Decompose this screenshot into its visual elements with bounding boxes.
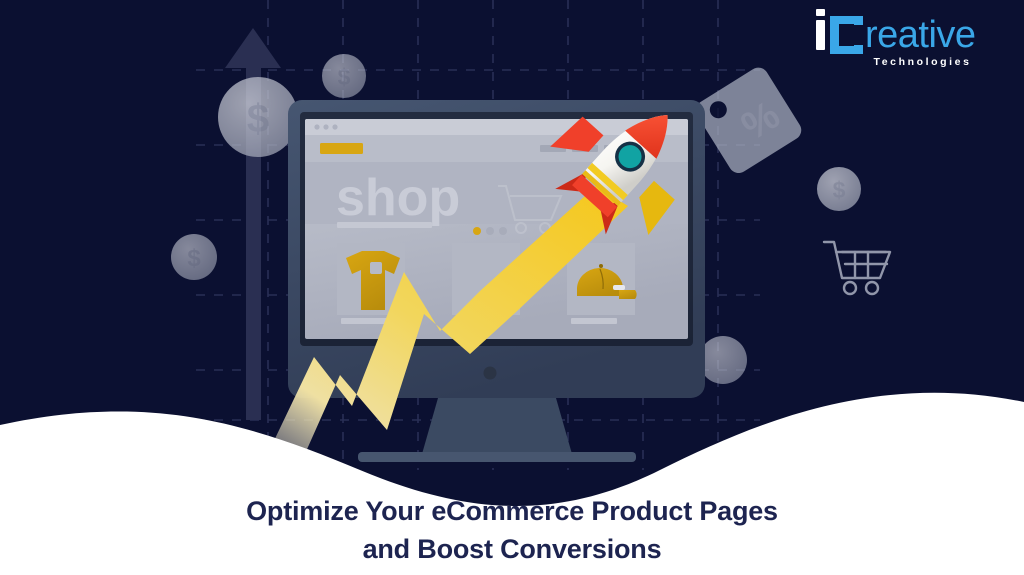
headline-line-1: Optimize Your eCommerce Product Pages xyxy=(0,492,1024,530)
carousel-dot-active[interactable] xyxy=(473,227,481,235)
logo-mark-and-word: reative xyxy=(816,16,976,54)
logo-subtitle: Technologies xyxy=(873,57,971,68)
monitor-stand xyxy=(422,398,572,454)
carousel-dots[interactable] xyxy=(473,227,507,235)
site-logo-bar xyxy=(320,143,363,154)
svg-text:$: $ xyxy=(338,64,351,90)
logo-wordmark: reative xyxy=(865,16,976,54)
brand-logo[interactable]: reative Technologies xyxy=(816,16,976,68)
hero-illustration: $ $ $ % $ xyxy=(0,0,1024,575)
carousel-dot[interactable] xyxy=(486,227,494,235)
browser-dots xyxy=(314,124,337,129)
hero-subtext-bar xyxy=(337,222,432,228)
page-title: Optimize Your eCommerce Product Pages an… xyxy=(0,492,1024,569)
headline-line-2: and Boost Conversions xyxy=(0,530,1024,568)
dollar-coin-icon: $ xyxy=(322,54,366,98)
svg-text:$: $ xyxy=(187,245,201,272)
banner-canvas: $ $ $ % $ xyxy=(0,0,1024,575)
dollar-coin-icon xyxy=(699,336,747,384)
monitor-camera-dot xyxy=(484,367,497,380)
logo-letter-i-icon xyxy=(816,20,825,50)
shop-wordmark: shop xyxy=(336,169,460,227)
dollar-coin-icon: $ xyxy=(218,77,298,157)
carousel-dot[interactable] xyxy=(499,227,507,235)
svg-text:$: $ xyxy=(833,177,846,203)
svg-text:$: $ xyxy=(247,97,269,141)
monitor-foot xyxy=(358,452,636,462)
dollar-coin-icon: $ xyxy=(817,167,861,211)
logo-letter-c-icon xyxy=(830,16,862,54)
dollar-coin-icon: $ xyxy=(171,234,217,280)
